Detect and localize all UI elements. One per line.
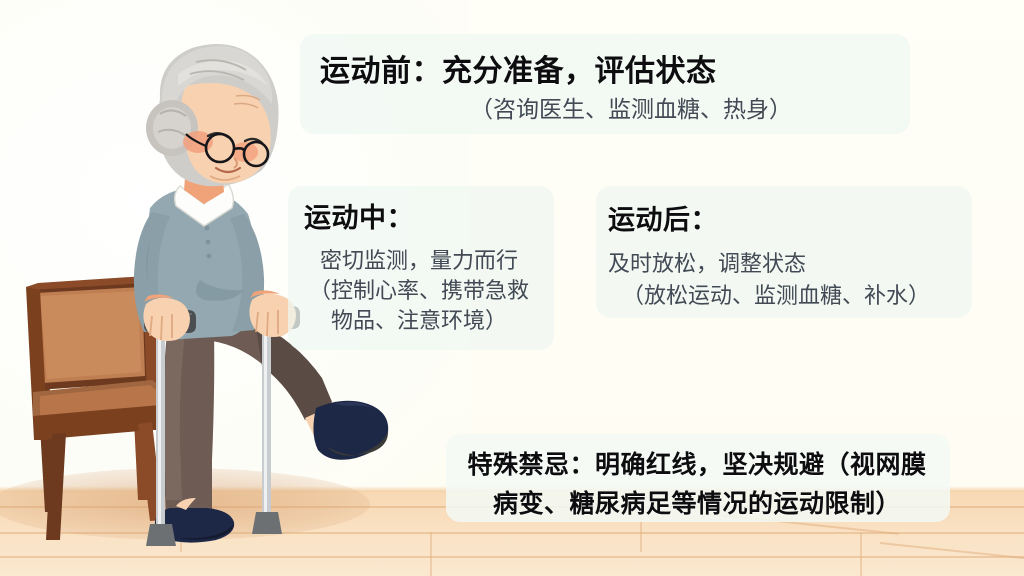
subtitle-after-line-1: 及时放松，调整状态 (608, 251, 806, 276)
slide-canvas: 运动前：充分准备，评估状态 （咨询医生、监测血糖、热身） 运动中： 密切监测，量… (0, 0, 1024, 576)
text-contraindications: 特殊禁忌：明确红线，坚决规避（视网膜病变、糖尿病足等情况的运动限制） (462, 446, 932, 524)
subtitle-during-exercise: 密切监测，量力而行（控制心率、携带急救物品、注意环境） (300, 246, 538, 336)
subtitle-after-exercise: 及时放松，调整状态 （放松运动、监测血糖、补水） (608, 248, 956, 312)
subtitle-after-line-2: （放松运动、监测血糖、补水） (608, 280, 956, 312)
heading-during-exercise: 运动中： (304, 196, 414, 235)
subtitle-before-exercise: （咨询医生、监测血糖、热身） (470, 90, 792, 124)
heading-before-exercise: 运动前：充分准备，评估状态 (320, 46, 717, 90)
figure-head (146, 44, 279, 186)
heading-after-exercise: 运动后： (608, 198, 718, 237)
